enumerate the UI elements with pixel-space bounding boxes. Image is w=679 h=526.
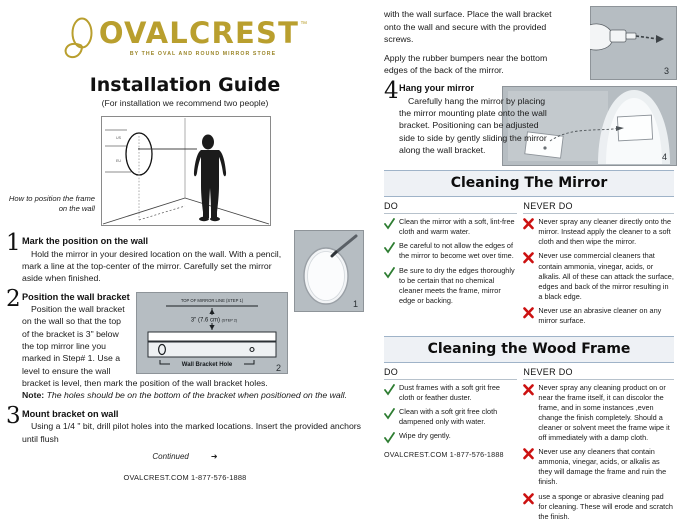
step-1-number: 1	[6, 232, 21, 255]
step-2-number: 2	[6, 288, 21, 311]
step-4: 4 Hang your mirror Carefully hang the mi…	[384, 83, 556, 156]
x-mark-icon	[523, 448, 534, 460]
cleaning-frame-never-3: use a sponge or abrasive cleaning pad fo…	[538, 492, 674, 522]
cleaning-frame-title: Cleaning the Wood Frame	[428, 341, 631, 357]
panel-2-label: 2	[276, 363, 281, 373]
check-icon	[384, 408, 395, 420]
installation-guide-page: OVALCREST ™ BY THE OVAL AND ROUND MIRROR…	[0, 0, 679, 489]
cleaning-mirror-never-column: NEVER DO Never spray any cleaner directl…	[523, 201, 674, 330]
cleaning-frame-section: Cleaning the Wood Frame DO Dust frames w…	[384, 336, 674, 526]
hero-diagram-row: How to position the frame on the wall US…	[6, 116, 364, 226]
continued-arrow-icon: ➜	[211, 452, 218, 461]
x-mark-icon	[523, 218, 534, 230]
title-block: Installation Guide (For installation we …	[6, 74, 364, 108]
step-2-note: Note: The holes should be on the bottom …	[22, 389, 364, 401]
cleaning-frame-title-bar: Cleaning the Wood Frame	[384, 336, 674, 363]
cleaning-frame-do-header: DO	[384, 367, 517, 380]
svg-text:EU: EU	[116, 159, 121, 163]
step-4-body: Carefully hang the mirror by placing the…	[399, 95, 556, 157]
panel-2-bracket-diagram: TOP OF MIRROR LINE (STEP 1) 3" (7.6 cm) …	[136, 292, 288, 374]
cleaning-mirror-title-bar: Cleaning The Mirror	[384, 170, 674, 197]
cleaning-mirror-do-1: Clean the mirror with a soft, lint-free …	[399, 217, 517, 237]
x-mark-icon	[523, 307, 534, 319]
cleaning-mirror-never-header: NEVER DO	[523, 201, 674, 214]
cleaning-frame-do-column: DO Dust frames with a soft grit free clo…	[384, 367, 517, 526]
list-item: Never use an abrasive cleaner on any mir…	[523, 306, 674, 326]
cleaning-frame-do-2: Clean with a soft grit free cloth dampen…	[399, 407, 517, 427]
check-icon	[384, 267, 395, 279]
step-4-heading: Hang your mirror	[399, 83, 556, 95]
list-item: Dust frames with a soft grit free cloth …	[384, 383, 517, 403]
list-item: Clean with a soft grit free cloth dampen…	[384, 407, 517, 427]
cleaning-mirror-never-2: Never use commercial cleaners that conta…	[538, 251, 674, 301]
cleaning-frame-never-header: NEVER DO	[523, 367, 674, 380]
list-item: Be careful to not allow the edges of the…	[384, 241, 517, 261]
check-icon	[384, 218, 395, 230]
trademark-symbol: ™	[300, 21, 307, 28]
cleaning-mirror-columns: DO Clean the mirror with a soft, lint-fr…	[384, 197, 674, 330]
cleaning-mirror-do-3: Be sure to dry the edges thoroughly to b…	[399, 266, 517, 306]
step-3-body: Using a 1/4 " bit, drill pilot holes int…	[22, 420, 364, 445]
steps-list: 1 1 Mark the position on the wall Hold t…	[6, 236, 364, 445]
brand-logo: OVALCREST ™ BY THE OVAL AND ROUND MIRROR…	[6, 14, 364, 62]
logo-tagline: BY THE OVAL AND ROUND MIRROR STORE	[130, 51, 276, 57]
panel-4-label: 4	[662, 152, 667, 162]
page-title: Installation Guide	[6, 74, 364, 96]
svg-text:US: US	[116, 136, 122, 140]
left-footer: OVALCREST.COM 1-877-576-1888	[6, 473, 364, 482]
room-perspective-diagram: US EU	[101, 116, 271, 226]
cleaning-mirror-do-2: Be careful to not allow the edges of the…	[399, 241, 517, 261]
panel-3-screwdriver-figure: 3	[590, 6, 677, 80]
step-3-number: 3	[6, 405, 21, 428]
cleaning-frame-do-1: Dust frames with a soft grit free cloth …	[399, 383, 517, 403]
check-icon	[384, 432, 395, 444]
cleaning-mirror-do-header: DO	[384, 201, 517, 214]
hero-caption: How to position the frame on the wall	[6, 116, 101, 215]
check-icon	[384, 384, 395, 396]
step-2-note-label: Note:	[22, 390, 44, 400]
cleaning-frame-never-column: NEVER DO Never spray any cleaning produc…	[523, 367, 674, 526]
left-column: OVALCREST ™ BY THE OVAL AND ROUND MIRROR…	[0, 0, 372, 489]
cleaning-mirror-title: Cleaning The Mirror	[451, 175, 608, 191]
step-3: 3 Mount bracket on wall Using a 1/4 " bi…	[6, 409, 364, 445]
step-2: TOP OF MIRROR LINE (STEP 1) 3" (7.6 cm) …	[6, 292, 364, 402]
list-item: use a sponge or abrasive cleaning pad fo…	[523, 492, 674, 522]
list-item: Wipe dry gently.	[384, 431, 517, 444]
right-column: 3 4 with the wall surface. Place the wal…	[380, 0, 679, 489]
cleaning-frame-do-3: Wipe dry gently.	[399, 431, 451, 441]
cleaning-mirror-do-column: DO Clean the mirror with a soft, lint-fr…	[384, 201, 517, 330]
bracket-hole-label: Wall Bracket Hole	[182, 362, 233, 368]
logo-text-block: OVALCREST ™ BY THE OVAL AND ROUND MIRROR…	[99, 19, 307, 57]
list-item: Never use commercial cleaners that conta…	[523, 251, 674, 301]
cleaning-mirror-section: Cleaning The Mirror DO Clean the mirror …	[384, 170, 674, 330]
list-item: Clean the mirror with a soft, lint-free …	[384, 217, 517, 237]
list-item: Be sure to dry the edges thoroughly to b…	[384, 266, 517, 306]
right-para-1: with the wall surface. Place the wall br…	[384, 8, 556, 46]
cleaning-mirror-never-1: Never spray any cleaner directly onto th…	[538, 217, 674, 247]
step-3-heading: Mount bracket on wall	[22, 409, 364, 421]
list-item: Never spray any cleaner directly onto th…	[523, 217, 674, 247]
bracket-top-line-label: TOP OF MIRROR LINE (STEP 1)	[181, 298, 244, 303]
step-4-number: 4	[384, 80, 399, 103]
panel-3-label: 3	[664, 66, 669, 76]
right-para-2: Apply the rubber bumpers near the bottom…	[384, 52, 556, 77]
cleaning-mirror-never-3: Never use an abrasive cleaner on any mir…	[538, 306, 674, 326]
x-mark-icon	[523, 252, 534, 264]
logo-wordmark: OVALCREST	[99, 19, 299, 48]
continued-label: Continued	[152, 452, 188, 461]
x-mark-icon	[523, 384, 534, 396]
x-mark-icon	[523, 493, 534, 505]
oval-swirl-logo-icon	[63, 16, 97, 60]
continued-marker: Continued➜	[6, 452, 364, 461]
right-footer: OVALCREST.COM 1-877-576-1888	[384, 450, 517, 459]
list-item: Never use any cleaners that contain ammo…	[523, 447, 674, 487]
right-intro-text: with the wall surface. Place the wall br…	[384, 8, 556, 156]
cleaning-frame-columns: DO Dust frames with a soft grit free clo…	[384, 363, 674, 526]
check-icon	[384, 242, 395, 254]
list-item: Never spray any cleaning product on or n…	[523, 383, 674, 443]
step-2-note-text: The holes should be on the bottom of the…	[44, 390, 347, 400]
cleaning-frame-never-2: Never use any cleaners that contain ammo…	[538, 447, 674, 487]
cleaning-frame-never-1: Never spray any cleaning product on or n…	[538, 383, 674, 443]
page-subtitle: (For installation we recommend two peopl…	[6, 98, 364, 108]
step-1: 1 1 Mark the position on the wall Hold t…	[6, 236, 364, 285]
